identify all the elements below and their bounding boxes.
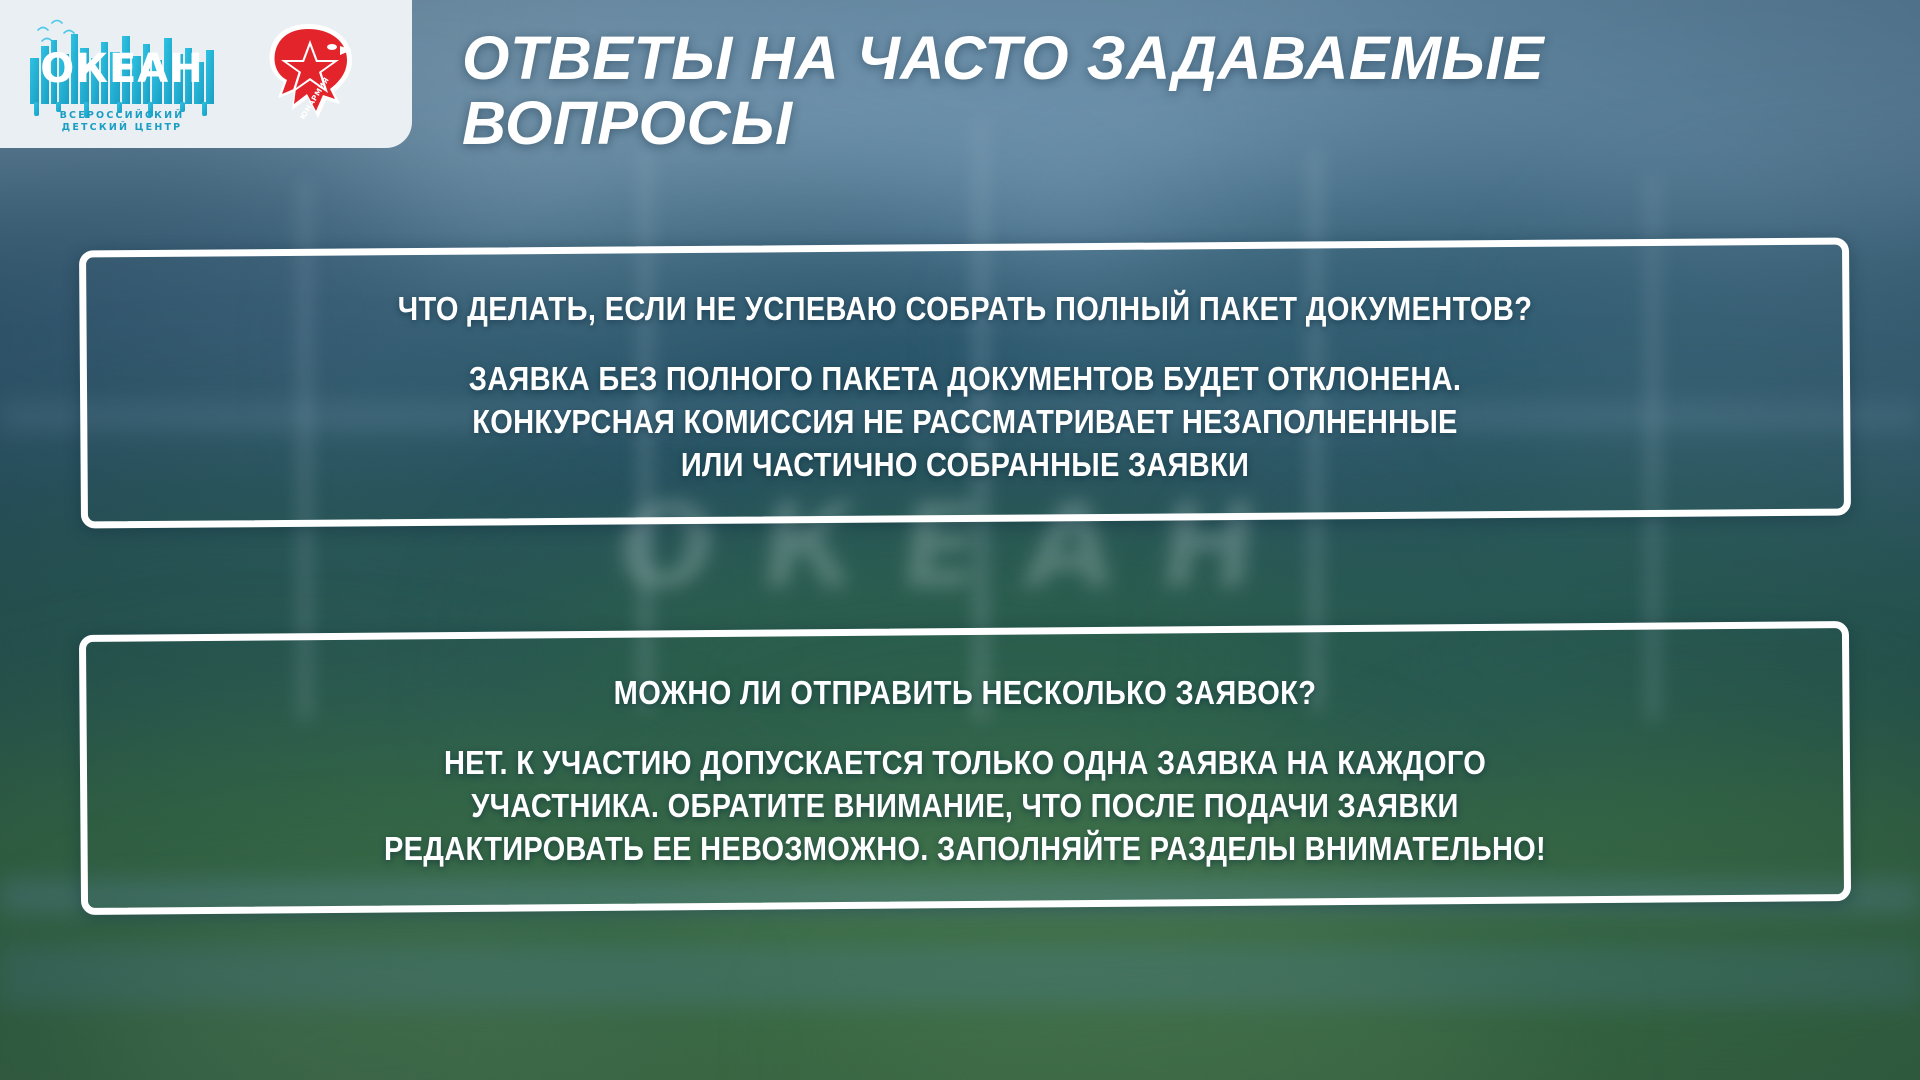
faq-card: ЧТО ДЕЛАТЬ, ЕСЛИ НЕ УСПЕВАЮ СОБРАТЬ ПОЛН…: [80, 244, 1850, 522]
yunarmia-logo[interactable]: ЮНАРМИЯ: [262, 22, 358, 126]
faq-card: МОЖНО ЛИ ОТПРАВИТЬ НЕСКОЛЬКО ЗАЯВОК? НЕТ…: [80, 628, 1850, 908]
background-vignette: [0, 0, 1920, 1080]
logo-panel: ОКЕАН ВСЕРОССИЙСКИЙ ДЕТСКИЙ ЦЕНТР ЮНАРМИ…: [0, 0, 412, 148]
faq-question: МОЖНО ЛИ ОТПРАВИТЬ НЕСКОЛЬКО ЗАЯВОК?: [225, 674, 1705, 712]
page-title-line-1: ОТВЕТЫ НА ЧАСТО ЗАДАВАЕМЫЕ: [462, 24, 1544, 92]
svg-text:ДЕТСКИЙ ЦЕНТР: ДЕТСКИЙ ЦЕНТР: [62, 121, 183, 133]
faq-answer: НЕТ. К УЧАСТИЮ ДОПУСКАЕТСЯ ТОЛЬКО ОДНА З…: [225, 742, 1705, 871]
faq-question: ЧТО ДЕЛАТЬ, ЕСЛИ НЕ УСПЕВАЮ СОБРАТЬ ПОЛН…: [225, 290, 1705, 328]
faq-answer-line: НЕТ. К УЧАСТИЮ ДОПУСКАЕТСЯ ТОЛЬКО ОДНА З…: [225, 742, 1705, 785]
svg-text:ВСЕРОССИЙСКИЙ: ВСЕРОССИЙСКИЙ: [60, 109, 185, 121]
faq-answer-line: КОНКУРСНАЯ КОМИССИЯ НЕ РАССМАТРИВАЕТ НЕЗ…: [225, 401, 1705, 444]
faq-answer-line: ЗАЯВКА БЕЗ ПОЛНОГО ПАКЕТА ДОКУМЕНТОВ БУД…: [225, 358, 1705, 401]
background-photo: ОКЕАН: [0, 0, 1920, 1080]
page-title-line-2: ВОПРОСЫ: [462, 89, 793, 157]
ocean-logo[interactable]: ОКЕАН ВСЕРОССИЙСКИЙ ДЕТСКИЙ ЦЕНТР: [22, 14, 222, 134]
svg-text:ОКЕАН: ОКЕАН: [40, 46, 203, 92]
faq-answer-line: ИЛИ ЧАСТИЧНО СОБРАННЫЕ ЗАЯВКИ: [225, 444, 1705, 487]
faq-answer-line: РЕДАКТИРОВАТЬ ЕЕ НЕВОЗМОЖНО. ЗАПОЛНЯЙТЕ …: [225, 828, 1705, 871]
faq-answer-line: УЧАСТНИКА. ОБРАТИТЕ ВНИМАНИЕ, ЧТО ПОСЛЕ …: [225, 785, 1705, 828]
faq-answer: ЗАЯВКА БЕЗ ПОЛНОГО ПАКЕТА ДОКУМЕНТОВ БУД…: [225, 358, 1705, 487]
page-title: ОТВЕТЫ НА ЧАСТО ЗАДАВАЕМЫЕ ВОПРОСЫ: [462, 26, 1762, 155]
